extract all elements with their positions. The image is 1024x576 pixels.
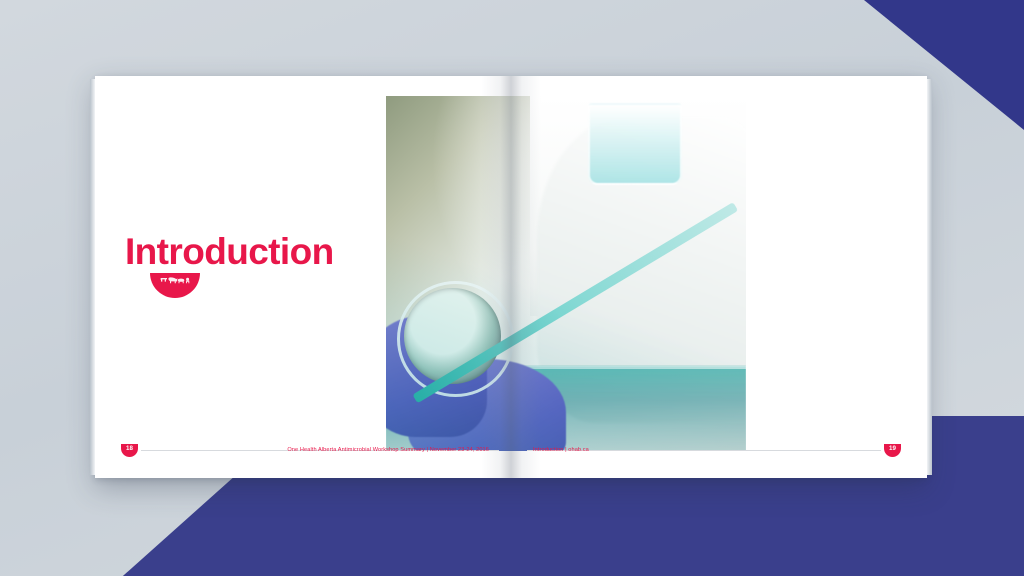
page-title: Introduction — [125, 233, 334, 270]
right-page-footer: 19 Introduction | ohab.ca — [511, 444, 927, 464]
teal-colour-wash — [386, 96, 746, 451]
left-page-footer: 18 One Health Alberta Antimicrobial Work… — [95, 444, 511, 464]
title-block: Introduction — [125, 233, 334, 299]
page-number-badge-right: 19 — [884, 444, 901, 457]
screenshot-canvas: Introduction 18 — [0, 0, 1024, 576]
ohab-crescent-livestock-mark-icon — [149, 273, 201, 299]
footer-text-right: Introduction | ohab.ca — [533, 447, 589, 453]
brochure-spread: Introduction 18 — [95, 76, 927, 478]
page-number-badge-left: 18 — [121, 444, 138, 457]
footer-text-left: One Health Alberta Antimicrobial Worksho… — [287, 447, 489, 453]
laboratory-petri-dish-photo — [386, 96, 746, 451]
